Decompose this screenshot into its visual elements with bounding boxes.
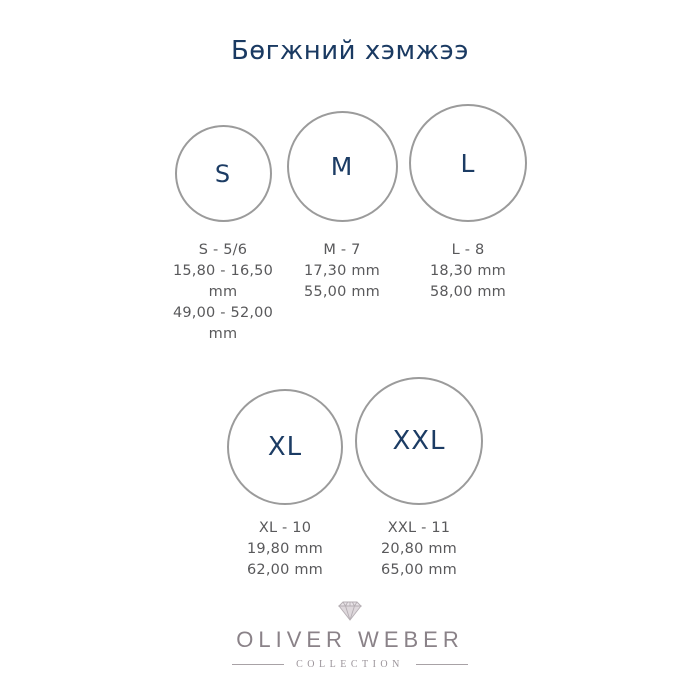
- size-diameter-l: 18,30 mm: [402, 261, 534, 282]
- size-circumference-m: 55,00 mm: [276, 282, 408, 303]
- size-diameter-m: 17,30 mm: [276, 261, 408, 282]
- size-letter-xl: XL: [268, 432, 302, 462]
- size-code-m: M - 7: [276, 240, 408, 261]
- page-title: Бөгжний хэмжээ: [0, 36, 700, 66]
- size-diameter-xl: 19,80 mm: [219, 539, 351, 560]
- size-group-m[interactable]: M M - 7 17,30 mm 55,00 mm: [286, 110, 398, 222]
- size-diameter-s: 15,80 - 16,50 mm: [160, 261, 286, 303]
- rule-right: [416, 664, 468, 665]
- collection-label: COLLECTION: [296, 659, 404, 670]
- size-group-s[interactable]: S S - 5/6 15,80 - 16,50 mm 49,00 - 52,00…: [160, 110, 286, 222]
- size-circle-s[interactable]: S: [175, 125, 272, 222]
- size-code-s: S - 5/6: [160, 240, 286, 261]
- size-circumference-s: 49,00 - 52,00 mm: [160, 303, 286, 345]
- size-group-xl[interactable]: XL XL - 10 19,80 mm 62,00 mm: [227, 374, 343, 505]
- size-letter-s: S: [215, 160, 231, 188]
- size-circumference-xl: 62,00 mm: [219, 560, 351, 581]
- size-caption-s: S - 5/6 15,80 - 16,50 mm 49,00 - 52,00 m…: [160, 240, 286, 345]
- brand-name: OLIVER WEBER: [0, 628, 700, 652]
- collection-line: COLLECTION: [0, 659, 700, 670]
- size-diameter-xxl: 20,80 mm: [353, 539, 485, 560]
- size-caption-m: M - 7 17,30 mm 55,00 mm: [276, 240, 408, 303]
- ring-size-chart: Бөгжний хэмжээ S S - 5/6 15,80 - 16,50 m…: [0, 0, 700, 700]
- size-group-xxl[interactable]: XXL XXL - 11 20,80 mm 65,00 mm: [355, 374, 483, 505]
- size-code-xxl: XXL - 11: [353, 518, 485, 539]
- size-letter-l: L: [461, 149, 476, 178]
- brand-logo: OLIVER WEBER COLLECTION: [0, 600, 700, 670]
- size-letter-xxl: XXL: [392, 426, 445, 456]
- size-group-l[interactable]: L L - 8 18,30 mm 58,00 mm: [409, 110, 527, 222]
- size-code-l: L - 8: [402, 240, 534, 261]
- rule-left: [232, 664, 284, 665]
- size-caption-l: L - 8 18,30 mm 58,00 mm: [402, 240, 534, 303]
- size-letter-m: M: [331, 152, 354, 181]
- size-circumference-xxl: 65,00 mm: [353, 560, 485, 581]
- size-circle-m[interactable]: M: [287, 111, 398, 222]
- size-caption-xl: XL - 10 19,80 mm 62,00 mm: [219, 518, 351, 581]
- size-circle-l[interactable]: L: [409, 104, 527, 222]
- size-circle-xl[interactable]: XL: [227, 389, 343, 505]
- size-circumference-l: 58,00 mm: [402, 282, 534, 303]
- size-caption-xxl: XXL - 11 20,80 mm 65,00 mm: [353, 518, 485, 581]
- diamond-icon: [335, 600, 365, 622]
- size-code-xl: XL - 10: [219, 518, 351, 539]
- size-circle-xxl[interactable]: XXL: [355, 377, 483, 505]
